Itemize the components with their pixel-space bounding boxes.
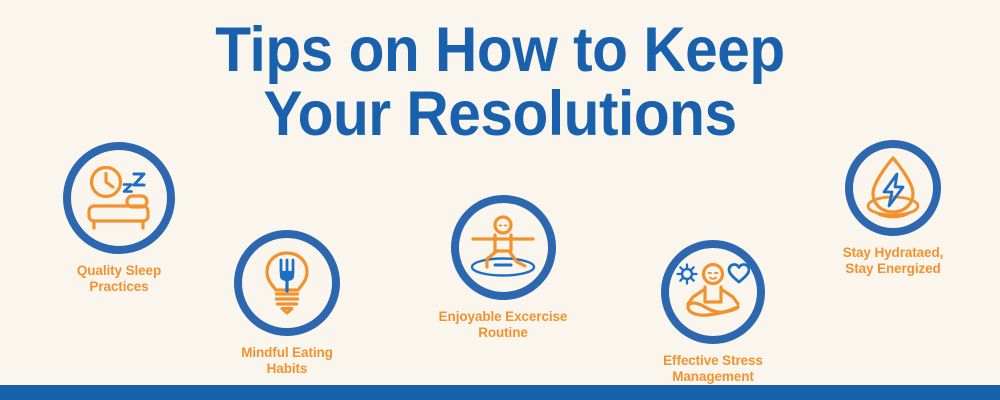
tip-label-stress-management: Effective Stress Management xyxy=(613,353,813,386)
lightbulb-fork-icon xyxy=(260,249,314,317)
footer-accent-bar xyxy=(0,385,1000,400)
tip-icon-circle xyxy=(451,195,556,300)
tip-label-stay-hydrated: Stay Hydrataed, Stay Energized xyxy=(793,245,993,278)
title-line-2: Your Resolutions xyxy=(35,86,965,144)
tip-icon-circle xyxy=(661,240,765,344)
page-title: Tips on How to Keep Your Resolutions xyxy=(0,22,1000,144)
infographic-canvas: Tips on How to Keep Your Resolutions Qua… xyxy=(0,0,1000,400)
tip-item-mindful-eating[interactable]: Mindful Eating Habits xyxy=(187,230,387,378)
yoga-warrior-pose-icon xyxy=(465,215,541,281)
sleep-clock-bed-icon xyxy=(82,164,156,232)
tip-item-enjoyable-exercise[interactable]: Enjoyable Excercise Routine xyxy=(403,195,603,342)
tip-label-enjoyable-exercise: Enjoyable Excercise Routine xyxy=(403,309,603,342)
tip-icon-circle xyxy=(234,230,340,336)
tip-icon-circle xyxy=(63,142,175,254)
tip-icon-circle xyxy=(845,140,941,236)
water-droplet-bolt-icon xyxy=(862,154,924,222)
heart-sub-icon xyxy=(729,265,749,283)
title-line-1: Tips on How to Keep xyxy=(35,22,965,80)
meditation-sun-heart-icon xyxy=(676,261,750,323)
sun-sparkle-sub-icon xyxy=(678,265,697,284)
tip-label-mindful-eating: Mindful Eating Habits xyxy=(187,345,387,378)
tip-item-stay-hydrated[interactable]: Stay Hydrataed, Stay Energized xyxy=(793,140,993,278)
tip-item-stress-management[interactable]: Effective Stress Management xyxy=(613,240,813,386)
